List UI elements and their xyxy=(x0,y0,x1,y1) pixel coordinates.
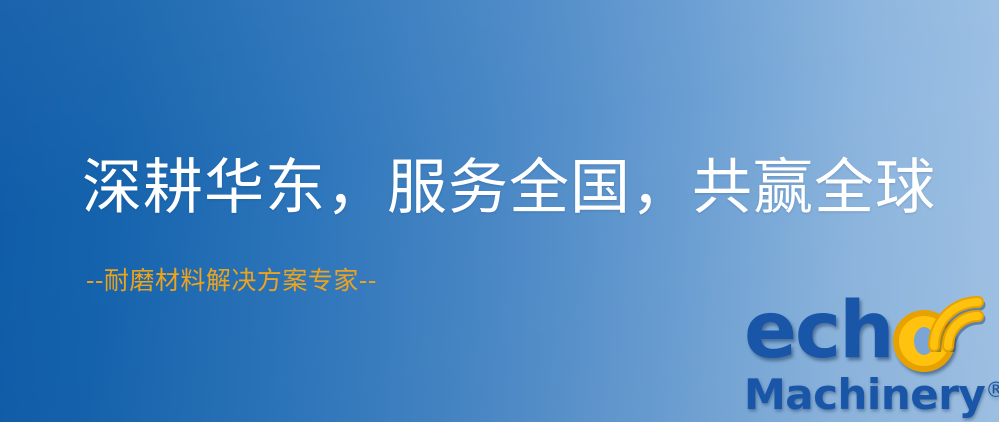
logo-echo-text: ech xyxy=(744,292,893,370)
hero-banner: 深耕华东，服务全国，共赢全球 --耐磨材料解决方案专家-- ech xyxy=(0,0,999,422)
banner-headline: 深耕华东，服务全国，共赢全球 xyxy=(82,152,936,224)
banner-subtitle: --耐磨材料解决方案专家-- xyxy=(86,265,377,297)
logo-brand-name: Machinery® xyxy=(744,366,999,419)
registered-trademark-mark: ® xyxy=(985,378,999,402)
company-logo[interactable]: ech Machinery® xyxy=(742,296,994,418)
logo-wordmark: ech xyxy=(742,296,994,370)
logo-brand-text: Machinery xyxy=(744,370,985,419)
wifi-arcs-icon xyxy=(928,290,996,352)
